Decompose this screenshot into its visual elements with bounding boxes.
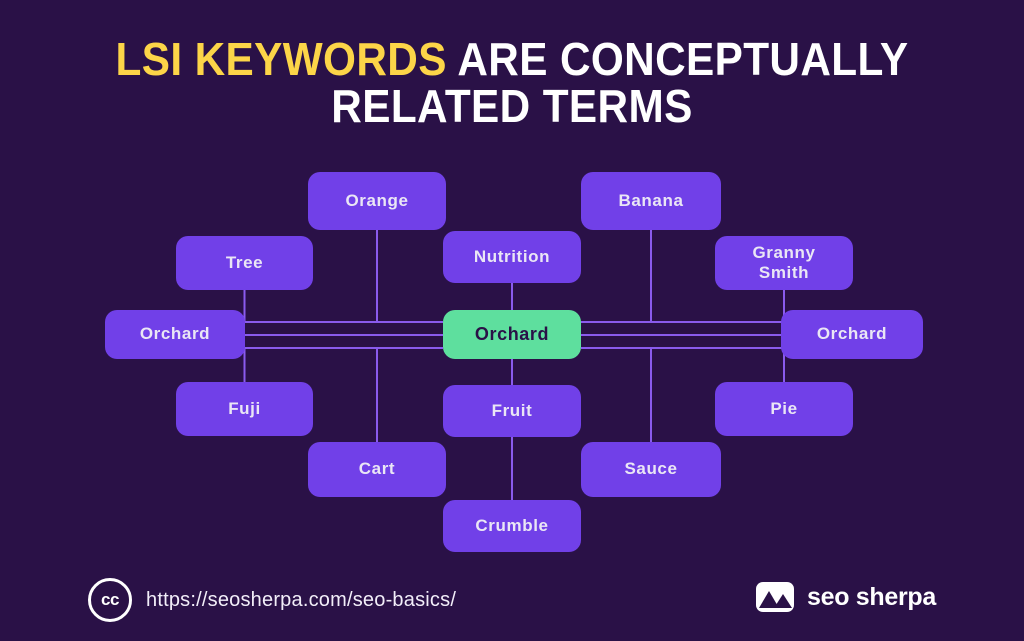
mind-map-diagram: OrangeBananaTreeNutritionGrannySmithOrch… (0, 0, 1024, 641)
node-orchard-left[interactable]: Orchard (105, 310, 245, 359)
node-nutrition[interactable]: Nutrition (443, 231, 581, 283)
footer-attribution: cc https://seosherpa.com/seo-basics/ (88, 578, 456, 622)
node-pie[interactable]: Pie (715, 382, 853, 436)
node-label: Orchard (817, 324, 887, 344)
brand-name: seo sherpa (807, 583, 936, 612)
node-label: Nutrition (474, 247, 550, 267)
node-label: Cart (359, 459, 395, 479)
node-crumble[interactable]: Crumble (443, 500, 581, 552)
node-label: Tree (226, 253, 263, 273)
node-orchard-right[interactable]: Orchard (781, 310, 923, 359)
node-label: Crumble (475, 516, 548, 536)
node-orchard-center[interactable]: Orchard (443, 310, 581, 359)
node-granny-smith[interactable]: GrannySmith (715, 236, 853, 290)
creative-commons-icon: cc (88, 578, 132, 622)
node-label: GrannySmith (752, 243, 815, 283)
source-url[interactable]: https://seosherpa.com/seo-basics/ (146, 589, 456, 612)
node-fuji[interactable]: Fuji (176, 382, 313, 436)
node-cart[interactable]: Cart (308, 442, 446, 497)
node-tree[interactable]: Tree (176, 236, 313, 290)
node-label: Orchard (140, 324, 210, 344)
node-label: Orange (345, 191, 408, 211)
node-label: Fruit (492, 401, 533, 421)
brand-logo: seo sherpa (756, 582, 936, 612)
node-banana[interactable]: Banana (581, 172, 721, 230)
node-label: Fuji (228, 399, 261, 419)
node-sauce[interactable]: Sauce (581, 442, 721, 497)
infographic-canvas: LSI KEYWORDS ARE CONCEPTUALLY RELATED TE… (0, 0, 1024, 641)
mountain-icon (756, 582, 794, 612)
node-label: Orchard (475, 324, 549, 345)
node-orange[interactable]: Orange (308, 172, 446, 230)
node-label: Sauce (624, 459, 677, 479)
node-label: Banana (618, 191, 683, 211)
node-label: Pie (770, 399, 797, 419)
node-fruit[interactable]: Fruit (443, 385, 581, 437)
